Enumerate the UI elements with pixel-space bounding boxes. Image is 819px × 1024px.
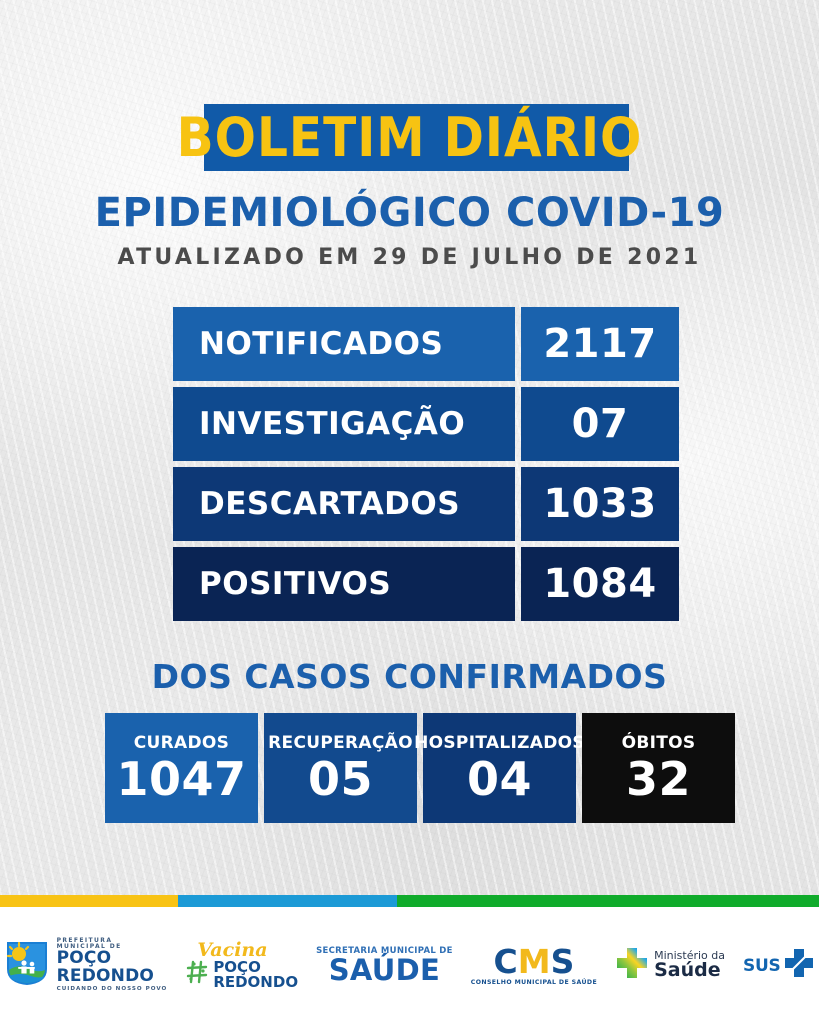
boletim-poster: BOLETIM DIÁRIO EPIDEMIOLÓGICO COVID-19 A…: [0, 0, 819, 1024]
cms-subtitle: CONSELHO MUNICIPAL DE SAÚDE: [471, 979, 597, 986]
row-label-notificados: NOTIFICADOS: [173, 307, 515, 381]
stripe-segment-blue: [178, 895, 397, 907]
row-label-positivos: POSITIVOS: [173, 547, 515, 621]
stat-label-hospitalizados: HOSPITALIZADOS: [414, 733, 585, 753]
row-label-investigacao: INVESTIGAÇÃO: [173, 387, 515, 461]
stat-value-obitos: 32: [626, 755, 691, 803]
cms-letter-c: C: [494, 942, 518, 981]
health-cross-icon: [615, 946, 649, 985]
logo-cms: CMS CONSELHO MUNICIPAL DE SAÚDE: [471, 945, 597, 986]
prefeitura-tagline: CUIDANDO DO NOSSO POVO: [57, 987, 168, 993]
puzzle-hash-icon: [185, 959, 211, 990]
stat-value-hospitalizados: 04: [467, 755, 532, 803]
stat-label-recuperacao: RECUPERAÇÃO: [268, 733, 413, 753]
table-row: DESCARTADOS 1033: [173, 467, 679, 541]
vacina-text-block: POÇO REDONDO: [213, 960, 298, 990]
vacina-name2: REDONDO: [213, 975, 298, 990]
footer-logo-bar: PREFEITURA MUNICIPAL DE POÇO REDONDO CUI…: [0, 907, 819, 1024]
secretaria-big-text: SAÚDE: [329, 956, 440, 985]
stat-box-obitos: ÓBITOS 32: [582, 713, 735, 823]
row-value-notificados: 2117: [521, 307, 679, 381]
stat-label-curados: CURADOS: [134, 733, 229, 753]
table-row: POSITIVOS 1084: [173, 547, 679, 621]
page-subtitle: EPIDEMIOLÓGICO COVID-19: [0, 190, 819, 236]
city-coat-of-arms-icon: [4, 939, 50, 992]
stat-box-recuperacao: RECUPERAÇÃO 05: [264, 713, 417, 823]
stat-value-recuperacao: 05: [308, 755, 373, 803]
confirmed-stats-group: CURADOS 1047 RECUPERAÇÃO 05 HOSPITALIZAD…: [105, 713, 735, 823]
updated-date: ATUALIZADO EM 29 DE JULHO DE 2021: [0, 245, 819, 270]
row-label-descartados: DESCARTADOS: [173, 467, 515, 541]
summary-table: NOTIFICADOS 2117 INVESTIGAÇÃO 07 DESCART…: [173, 307, 679, 627]
tricolor-stripe: [0, 895, 819, 907]
cms-letter-m: M: [518, 942, 551, 981]
stat-box-hospitalizados: HOSPITALIZADOS 04: [423, 713, 576, 823]
page-title: BOLETIM DIÁRIO: [0, 98, 819, 178]
table-row: INVESTIGAÇÃO 07: [173, 387, 679, 461]
row-value-descartados: 1033: [521, 467, 679, 541]
prefeitura-text-block: PREFEITURA MUNICIPAL DE POÇO REDONDO CUI…: [57, 938, 168, 992]
logo-sus: SUS: [743, 947, 815, 984]
prefeitura-name2: REDONDO: [57, 968, 168, 985]
logo-secretaria-saude: SECRETARIA MUNICIPAL DE SAÚDE: [316, 946, 453, 985]
cms-letters: CMS: [494, 945, 575, 978]
sus-text: SUS: [743, 956, 780, 976]
cms-letter-s: S: [551, 942, 575, 981]
vacina-name-row: POÇO REDONDO: [185, 959, 298, 990]
sus-cross-icon: [783, 947, 815, 984]
logo-vacina-poco-redondo: Vacina: [185, 941, 298, 990]
stripe-segment-green: [397, 895, 819, 907]
stat-label-obitos: ÓBITOS: [622, 733, 696, 753]
stat-box-curados: CURADOS 1047: [105, 713, 258, 823]
stripe-segment-yellow: [0, 895, 178, 907]
stat-value-curados: 1047: [116, 755, 246, 803]
confirmed-section-title: DOS CASOS CONFIRMADOS: [0, 657, 819, 696]
table-row: NOTIFICADOS 2117: [173, 307, 679, 381]
row-value-positivos: 1084: [521, 547, 679, 621]
ministerio-big-text: Saúde: [654, 961, 725, 981]
logo-ministerio-saude: Ministério da Saúde: [615, 946, 725, 985]
ministerio-text-block: Ministério da Saúde: [654, 950, 725, 981]
row-value-investigacao: 07: [521, 387, 679, 461]
logo-prefeitura-poco-redondo: PREFEITURA MUNICIPAL DE POÇO REDONDO CUI…: [4, 938, 168, 992]
